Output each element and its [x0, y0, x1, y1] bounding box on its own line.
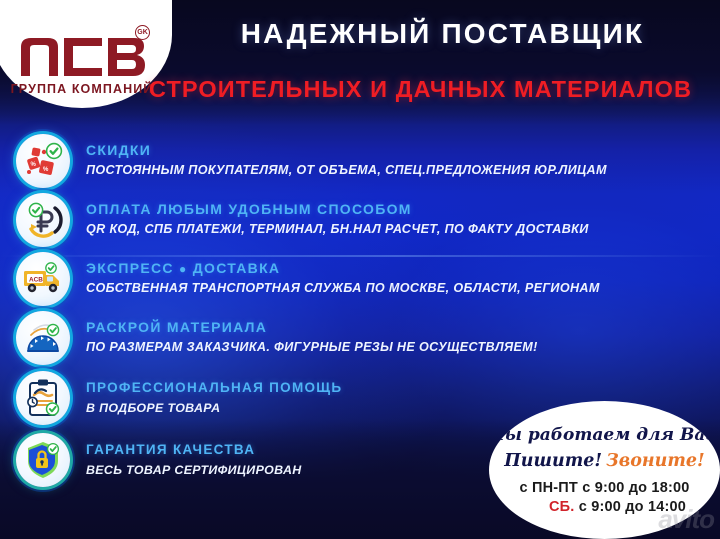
feature-title: ОПЛАТА ЛЮБЫМ УДОБНЫМ СПОСОБОМ: [86, 201, 589, 219]
feature-title: ЭКСПРЕСС ● ДОСТАВКА: [86, 260, 600, 278]
cta-call: Звоните!: [606, 451, 705, 471]
svg-text:%: %: [43, 167, 49, 173]
feature-title: РАСКРОЙ МАТЕРИАЛА: [86, 319, 538, 337]
feature-text: СКИДКИ ПОСТОЯННЫМ ПОКУПАТЕЛЯМ, ОТ ОБЪЕМА…: [86, 142, 607, 180]
clipboard-handshake-icon: [16, 371, 70, 425]
feature-row-delivery: ACB ЭКСПРЕСС ● ДОСТАВКА СОБСТВЕННАЯ ТРАН…: [0, 249, 720, 308]
feature-text: ПРОФЕССИОНАЛЬНАЯ ПОМОЩЬ В ПОДБОРЕ ТОВАРА: [86, 380, 342, 417]
feature-desc: QR КОД, СПБ ПЛАТЕЖИ, ТЕРМИНАЛ, БН.НАЛ РА…: [86, 221, 589, 238]
svg-text:ACB: ACB: [29, 276, 43, 283]
svg-text:%: %: [31, 162, 37, 168]
working-hours-panel: Мы работаем для Вас! Пишите!Звоните! с П…: [489, 401, 720, 539]
feature-text: ГАРАНТИЯ КАЧЕСТВА ВЕСЬ ТОВАР СЕРТИФИЦИРО…: [86, 442, 302, 479]
feature-title: СКИДКИ: [86, 142, 607, 160]
feature-desc: ПОСТОЯННЫМ ПОКУПАТЕЛЯМ, ОТ ОБЪЕМА, СПЕЦ.…: [86, 162, 607, 179]
logo-gk-badge: GK: [135, 25, 150, 40]
feature-text: РАСКРОЙ МАТЕРИАЛА ПО РАЗМЕРАМ ЗАКАЗЧИКА.…: [86, 319, 538, 357]
feature-desc: ПО РАЗМЕРАМ ЗАКАЗЧИКА. ФИГУРНЫЕ РЕЗЫ НЕ …: [86, 339, 538, 356]
feature-desc: В ПОДБОРЕ ТОВАРА: [86, 400, 342, 417]
headline-secondary: СТРОИТЕЛЬНЫХ И ДАЧНЫХ МАТЕРИАЛОВ: [128, 76, 713, 103]
feature-title: ПРОФЕССИОНАЛЬНАЯ ПОМОЩЬ: [86, 380, 342, 397]
hours-saturday: СБ. с 9:00 до 14:00: [523, 499, 686, 515]
feature-desc: СОБСТВЕННАЯ ТРАНСПОРТНАЯ СЛУЖБА ПО МОСКВ…: [86, 280, 600, 297]
cta-write: Пишите!: [504, 451, 602, 471]
feature-row-discounts: %% СКИДКИ ПОСТОЯННЫМ ПОКУПАТЕЛЯМ, ОТ ОБЪ…: [0, 131, 720, 190]
hours-saturday-label: СБ.: [549, 499, 575, 515]
feature-text: ОПЛАТА ЛЮБЫМ УДОБНЫМ СПОСОБОМ QR КОД, СП…: [86, 201, 589, 239]
shield-lock-icon: [16, 433, 70, 487]
hours-saturday-value: с 9:00 до 14:00: [579, 499, 686, 515]
promo-banner: GK ГРУППА КОМПАНИЙ НАДЕЖНЫЙ ПОСТАВЩИК СТ…: [0, 0, 720, 539]
feature-text: ЭКСПРЕСС ● ДОСТАВКА СОБСТВЕННАЯ ТРАНСПОР…: [86, 260, 600, 298]
discount-tags-icon: %%: [16, 134, 70, 188]
logo-mark-acb: GK: [18, 31, 146, 77]
hours-weekday: с ПН-ПТ с 9:00 до 18:00: [519, 480, 689, 496]
hours-slogan: Мы работаем для Вас!: [489, 425, 720, 445]
hours-weekday-label: с ПН-ПТ: [519, 480, 578, 496]
feature-row-cutting: РАСКРОЙ МАТЕРИАЛА ПО РАЗМЕРАМ ЗАКАЗЧИКА.…: [0, 308, 720, 367]
feature-title: ГАРАНТИЯ КАЧЕСТВА: [86, 442, 302, 459]
feature-row-payment: ОПЛАТА ЛЮБЫМ УДОБНЫМ СПОСОБОМ QR КОД, СП…: [0, 190, 720, 249]
feature-desc: ВЕСЬ ТОВАР СЕРТИФИЦИРОВАН: [86, 462, 302, 479]
feature-title-before: ЭКСПРЕСС: [86, 260, 174, 276]
hours-weekday-value: с 9:00 до 18:00: [582, 480, 689, 496]
hours-cta: Пишите!Звоните!: [504, 451, 704, 471]
delivery-truck-icon: ACB: [16, 252, 70, 306]
ruble-payment-icon: [16, 193, 70, 247]
saw-blade-icon: [16, 311, 70, 365]
headline-primary: НАДЕЖНЫЙ ПОСТАВЩИК: [175, 18, 710, 50]
bullet-separator-icon: ●: [179, 262, 188, 276]
feature-title-after: ДОСТАВКА: [193, 260, 281, 276]
